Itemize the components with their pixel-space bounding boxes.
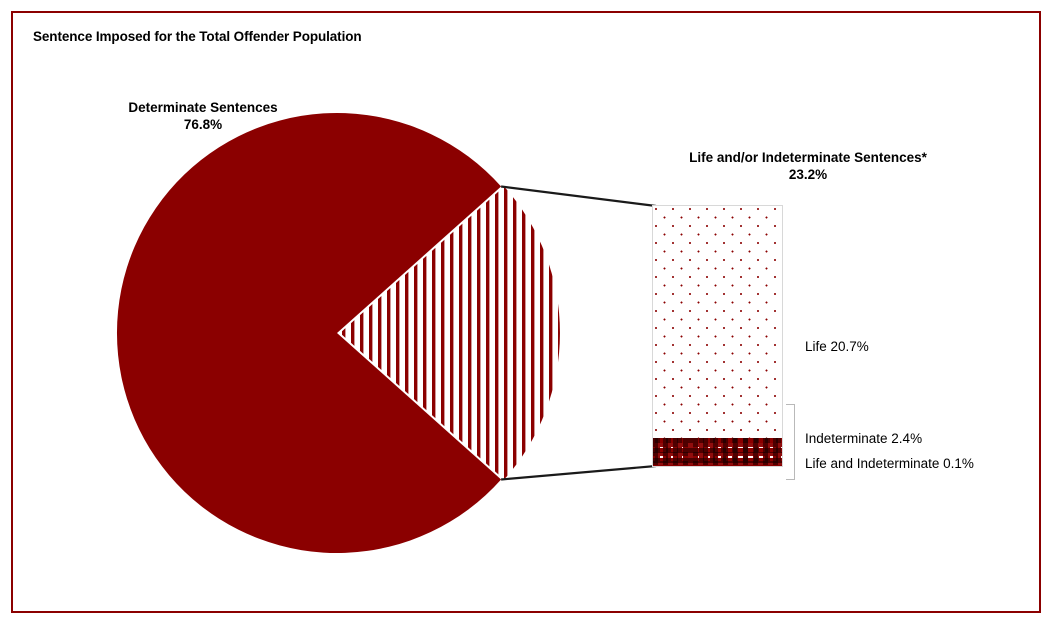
pie-chart bbox=[0, 0, 1055, 627]
chart-figure: Sentence Imposed for the Total Offender … bbox=[0, 0, 1055, 627]
bar-segment-life-and-indeterminate bbox=[653, 465, 782, 467]
bar-segment-indeterminate bbox=[653, 438, 782, 465]
pie-slice-determinate-label: Determinate Sentences 76.8% bbox=[78, 100, 328, 134]
leader-line-bottom bbox=[501, 466, 656, 480]
breakout-title: Life and/or Indeterminate Sentences* 23.… bbox=[648, 150, 968, 184]
pie-determinate-name: Determinate Sentences bbox=[128, 100, 277, 115]
pie-determinate-percent: 76.8% bbox=[78, 117, 328, 134]
leader-line-top bbox=[501, 187, 656, 207]
bar-segment-life bbox=[653, 206, 782, 438]
bar-label-life: Life 20.7% bbox=[805, 339, 869, 354]
breakout-stacked-bar bbox=[652, 205, 783, 467]
bar-label-life-and-indeterminate: Life and Indeterminate 0.1% bbox=[805, 456, 974, 471]
breakout-title-name: Life and/or Indeterminate Sentences* bbox=[689, 150, 927, 165]
breakout-bracket bbox=[786, 404, 795, 480]
breakout-title-percent: 23.2% bbox=[648, 167, 968, 184]
bar-label-indeterminate: Indeterminate 2.4% bbox=[805, 431, 922, 446]
